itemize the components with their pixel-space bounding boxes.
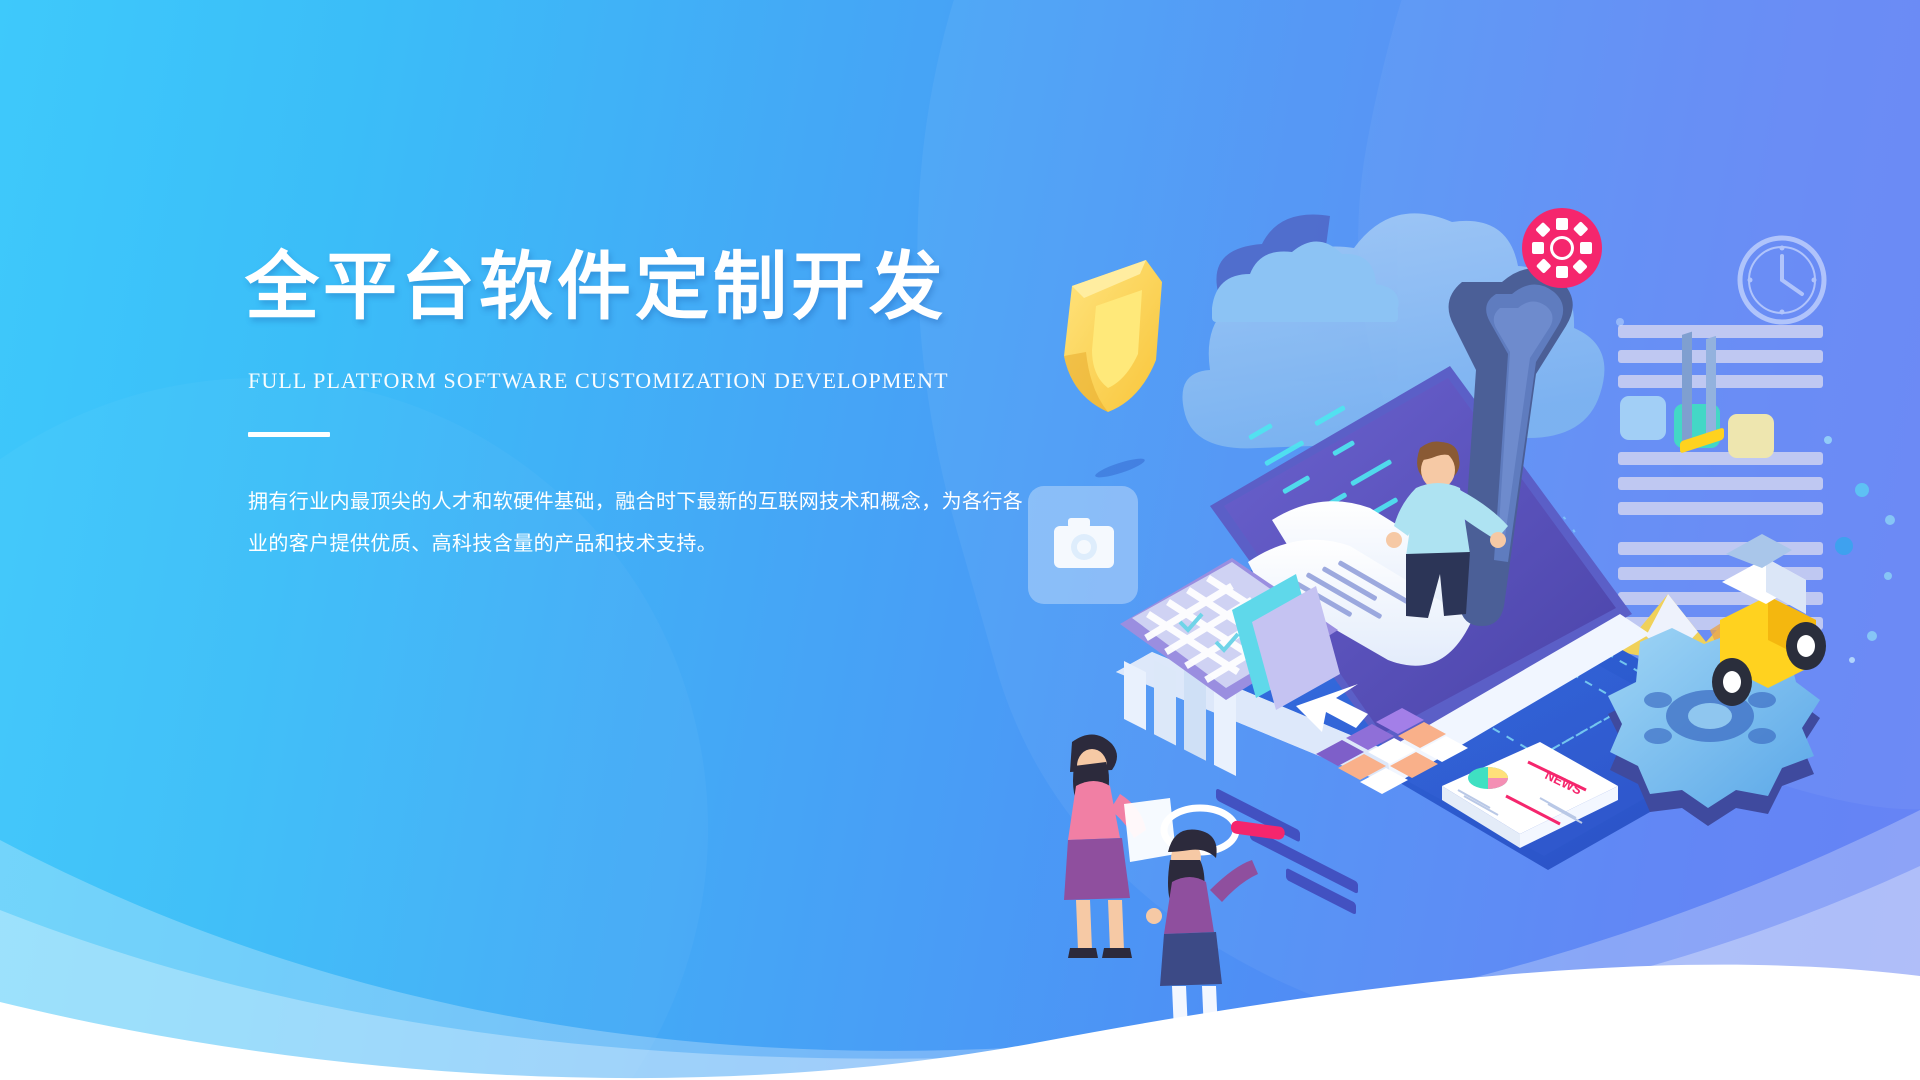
page-subtitle: FULL PLATFORM SOFTWARE CUSTOMIZATION DEV… [248,368,1065,394]
security-shield [1064,260,1162,412]
clock-icon [1740,238,1824,322]
page-title: 全平台软件定制开发 [245,248,1065,326]
title-divider [248,432,330,437]
hero-copy: 全平台软件定制开发 FULL PLATFORM SOFTWARE CUSTOMI… [245,248,1065,565]
settings-gear-badge [1522,208,1602,288]
page-description: 拥有行业内最顶尖的人才和软硬件基础，融合时下最新的互联网技术和概念，为各行各业的… [248,481,1038,565]
hero-banner: NEWS [0,0,1920,1080]
bottom-wave-decoration [0,780,1920,1080]
